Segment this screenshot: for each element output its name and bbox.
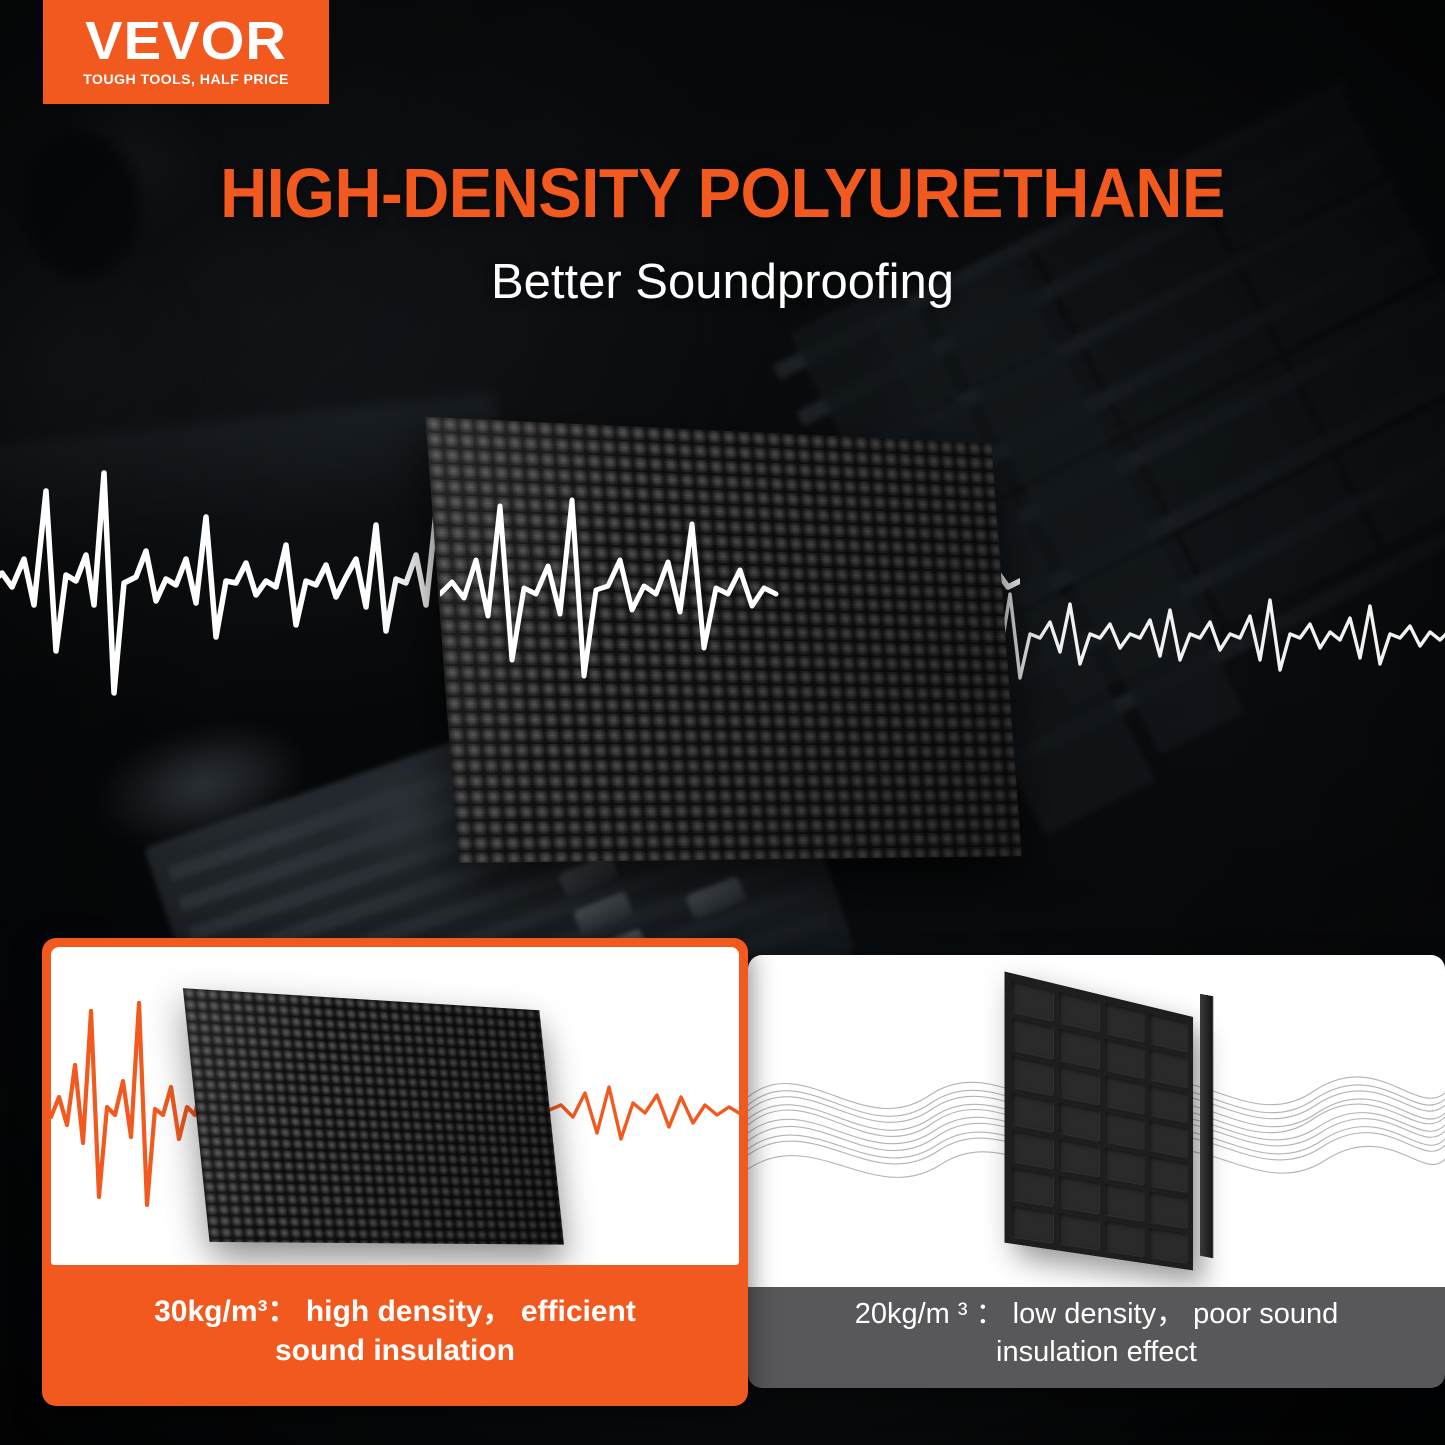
- high-density-caption-bar: 30kg/m³： high density， efficient sound i…: [42, 1265, 748, 1406]
- product-marketing-image: VEVOR TOUGH TOOLS, HALF PRICE HIGH-DENSI…: [0, 0, 1445, 1445]
- vevor-logo: VEVOR TOUGH TOOLS, HALF PRICE: [43, 0, 329, 104]
- low-density-illustration: [748, 955, 1445, 1287]
- logo-tagline: TOUGH TOOLS, HALF PRICE: [83, 72, 289, 88]
- logo-wordmark: VEVOR: [85, 16, 287, 68]
- egg-crate-foam-small: [183, 988, 564, 1244]
- waveform-over-panel: [440, 490, 1060, 690]
- comparison-card-low-density: 20kg/m ³ ： low density， poor sound insul…: [748, 955, 1445, 1388]
- high-density-caption: 30kg/m³： high density， efficient sound i…: [154, 1293, 636, 1370]
- page-headline: HIGH-DENSITY POLYURETHANE: [51, 158, 1395, 228]
- grid-foam-edge: [1200, 994, 1213, 1259]
- low-density-caption: 20kg/m ³ ： low density， poor sound insul…: [855, 1296, 1339, 1370]
- high-density-illustration: [51, 947, 739, 1265]
- square-grid-foam: [1005, 971, 1194, 1270]
- foam-small-shading: [183, 988, 564, 1244]
- comparison-card-high-density: 30kg/m³： high density， efficient sound i…: [42, 938, 748, 1406]
- page-subheadline: Better Soundproofing: [0, 258, 1445, 307]
- low-density-caption-bar: 20kg/m ³ ： low density， poor sound insul…: [748, 1287, 1445, 1388]
